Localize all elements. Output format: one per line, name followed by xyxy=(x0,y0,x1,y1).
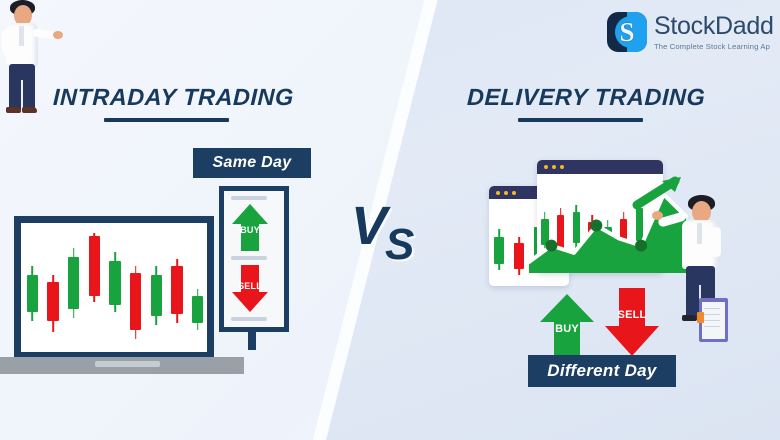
laptop-trackpad xyxy=(95,361,160,367)
candlestick-body xyxy=(151,275,162,316)
candlestick xyxy=(109,224,120,351)
buy-arrow-head-icon xyxy=(232,204,268,224)
collar xyxy=(697,223,702,244)
intraday-candlestick-chart xyxy=(22,224,208,351)
brand-text: StockDadd The Complete Stock Learning Ap xyxy=(654,14,774,51)
phone-stand xyxy=(248,330,256,350)
shoe-right xyxy=(22,107,37,113)
versus-s: S xyxy=(385,223,414,267)
phone-line-top xyxy=(231,196,267,200)
brand-tagline: The Complete Stock Learning Ap xyxy=(654,43,774,51)
window-dot-icon xyxy=(496,191,500,195)
left-title-underline xyxy=(104,118,229,122)
candlestick xyxy=(47,224,58,351)
shoe-left xyxy=(6,107,21,113)
candlestick xyxy=(130,224,141,351)
phone-line-middle xyxy=(231,256,267,260)
area-chart-marker xyxy=(590,220,602,232)
stockdaddy-mark-icon: S xyxy=(607,12,647,52)
phone-mockup: BUY SELL xyxy=(219,186,289,332)
arm-down xyxy=(712,227,721,257)
sell-label: SELL xyxy=(232,281,268,291)
candlestick-body xyxy=(130,273,141,330)
candlestick-body xyxy=(514,243,524,269)
clipboard-clip xyxy=(697,312,704,323)
window-dot-icon xyxy=(504,191,508,195)
buy-label: BUY xyxy=(232,225,268,235)
window-dot-icon xyxy=(552,165,556,169)
candlestick-body xyxy=(192,296,203,323)
window-dot-icon xyxy=(512,191,516,195)
sell-arrow-phone[interactable]: SELL xyxy=(232,265,268,312)
candlestick xyxy=(27,224,38,351)
sell-label: SELL xyxy=(605,309,659,321)
window-dot-icon xyxy=(560,165,564,169)
candlestick xyxy=(514,199,524,286)
buy-arrow-head-icon xyxy=(540,294,594,322)
brand-logo: S StockDadd The Complete Stock Learning … xyxy=(607,12,774,52)
candlestick-body xyxy=(109,261,120,304)
window-titlebar-front xyxy=(537,160,663,174)
left-panel-title: INTRADAY TRADING xyxy=(53,84,295,111)
candlestick-body xyxy=(171,266,182,314)
candlestick xyxy=(89,224,100,351)
sell-arrow-delivery[interactable]: SELL xyxy=(605,288,659,356)
buy-arrow-delivery[interactable]: BUY xyxy=(540,294,594,356)
sell-arrow-head-icon xyxy=(605,326,659,356)
versus-v: V xyxy=(351,199,387,253)
collar xyxy=(19,26,24,46)
window-dot-icon xyxy=(544,165,548,169)
hand-raised xyxy=(652,211,663,220)
candlestick-body xyxy=(47,282,58,321)
candlestick xyxy=(192,224,203,351)
candlestick-body xyxy=(89,236,100,295)
leg-gap xyxy=(21,80,23,110)
laptop-mockup xyxy=(14,216,214,359)
candlestick-body xyxy=(494,237,504,265)
clipboard-icon xyxy=(699,298,728,342)
clipboard-line xyxy=(704,308,720,309)
right-title-underline xyxy=(518,118,643,122)
hand-right xyxy=(53,31,63,39)
different-day-badge: Different Day xyxy=(528,355,676,387)
same-day-badge: Same Day xyxy=(193,148,311,178)
arm-left xyxy=(2,30,11,56)
area-chart-marker xyxy=(635,240,647,252)
candlestick xyxy=(151,224,162,351)
buy-label: BUY xyxy=(540,323,594,335)
candlestick-body xyxy=(68,257,79,310)
right-panel-title: DELIVERY TRADING xyxy=(467,84,706,111)
candlestick xyxy=(494,199,504,286)
buy-arrow-phone[interactable]: BUY xyxy=(232,204,268,251)
infographic-canvas: S StockDadd The Complete Stock Learning … xyxy=(0,0,780,440)
shoe-left xyxy=(682,315,697,321)
clipboard-line xyxy=(704,320,720,321)
area-chart-marker xyxy=(545,240,557,252)
versus-mark: V S xyxy=(351,199,431,271)
mark-letter: S xyxy=(607,12,647,52)
clipboard-line xyxy=(704,326,720,327)
brand-name: StockDadd xyxy=(654,14,774,39)
candlestick xyxy=(171,224,182,351)
phone-line-bottom xyxy=(231,317,267,321)
candlestick-body xyxy=(27,275,38,312)
sell-arrow-head-icon xyxy=(232,292,268,312)
clipboard-line xyxy=(704,314,720,315)
candlestick xyxy=(68,224,79,351)
